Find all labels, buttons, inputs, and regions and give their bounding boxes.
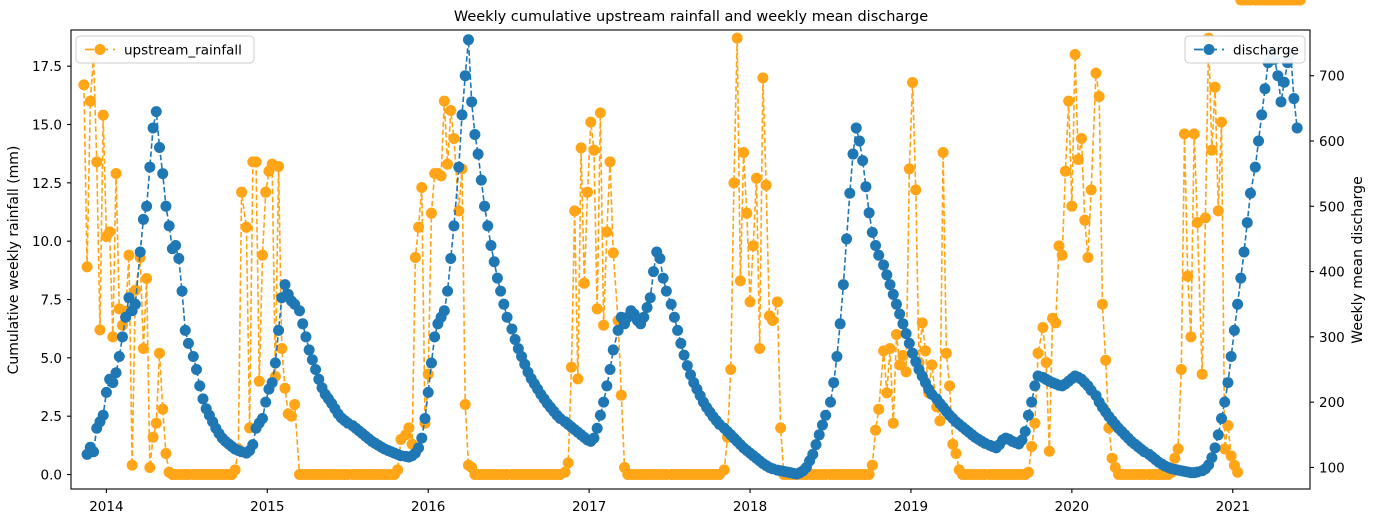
series-marker-discharge (841, 233, 852, 244)
legend-left-marker-swatch (95, 44, 106, 55)
series-marker-discharge (1239, 246, 1250, 257)
series-marker-discharge (904, 338, 915, 349)
series-marker-discharge (648, 266, 659, 277)
series-marker-upstream_rainfall (757, 72, 768, 83)
series-marker-upstream_rainfall (595, 107, 606, 118)
series-marker-discharge (489, 256, 500, 267)
series-marker-discharge (844, 188, 855, 199)
series-marker-upstream_rainfall (891, 329, 902, 340)
y-left-tick-label: 5.0 (41, 351, 62, 367)
series-marker-discharge (439, 305, 450, 316)
series-marker-discharge (814, 429, 825, 440)
series-marker-upstream_rainfall (1206, 145, 1217, 156)
series-marker-upstream_rainfall (151, 418, 162, 429)
series-marker-discharge (307, 354, 318, 365)
series-marker-discharge (148, 122, 159, 133)
series-marker-upstream_rainfall (725, 364, 736, 375)
y-right-tick-label: 600 (1319, 134, 1345, 150)
series-marker-discharge (485, 240, 496, 251)
series-marker-discharge (453, 162, 464, 173)
series-marker-discharge (595, 410, 606, 421)
y-right-tick-label: 700 (1319, 69, 1345, 85)
series-marker-discharge (605, 364, 616, 375)
series-marker-discharge (448, 220, 459, 231)
series-marker-discharge (851, 122, 862, 133)
x-tick-label: 2016 (411, 499, 445, 515)
series-marker-discharge (164, 220, 175, 231)
y-left-tick-label: 10.0 (32, 234, 62, 250)
series-marker-upstream_rainfall (864, 469, 875, 480)
series-marker-discharge (257, 413, 268, 424)
series-marker-discharge (1245, 188, 1256, 199)
series-marker-discharge (280, 279, 291, 290)
series-marker-upstream_rainfall (1050, 317, 1061, 328)
series-marker-upstream_rainfall (1232, 467, 1243, 478)
series-marker-upstream_rainfall (1216, 117, 1227, 128)
series-marker-discharge (479, 201, 490, 212)
series-marker-discharge (601, 380, 612, 391)
series-marker-upstream_rainfall (735, 275, 746, 286)
series-marker-discharge (1250, 162, 1261, 173)
series-marker-discharge (107, 377, 118, 388)
series-marker-upstream_rainfall (78, 79, 89, 90)
series-marker-upstream_rainfall (1200, 212, 1211, 223)
series-marker-discharge (1229, 325, 1240, 336)
series-marker-upstream_rainfall (761, 180, 772, 191)
series-marker-discharge (873, 250, 884, 261)
series-marker-upstream_rainfall (436, 170, 447, 181)
series-marker-upstream_rainfall (442, 159, 453, 170)
series-marker-discharge (672, 325, 683, 336)
series-marker-upstream_rainfall (111, 168, 122, 179)
y-left-tick-label: 12.5 (32, 176, 62, 192)
series-marker-discharge (1206, 452, 1217, 463)
series-marker-upstream_rainfall (867, 460, 878, 471)
series-marker-upstream_rainfall (439, 96, 450, 107)
series-marker-upstream_rainfall (1182, 271, 1193, 282)
series-marker-discharge (811, 439, 822, 450)
series-marker-upstream_rainfall (885, 343, 896, 354)
series-marker-discharge (831, 351, 842, 362)
series-marker-discharge (183, 338, 194, 349)
series-marker-discharge (848, 149, 859, 160)
series-marker-upstream_rainfall (1100, 355, 1111, 366)
series-marker-discharge (194, 380, 205, 391)
series-marker-upstream_rainfall (775, 422, 786, 433)
series-marker-upstream_rainfall (1073, 154, 1084, 165)
series-marker-upstream_rainfall (82, 261, 93, 272)
series-marker-discharge (1226, 351, 1237, 362)
series-marker-discharge (420, 413, 431, 424)
series-marker-discharge (1242, 217, 1253, 228)
series-marker-discharge (502, 312, 513, 323)
series-marker-discharge (1276, 96, 1287, 107)
series-marker-upstream_rainfall (728, 177, 739, 188)
series-marker-discharge (492, 273, 503, 284)
series-marker-upstream_rainfall (1197, 369, 1208, 380)
series-marker-upstream_rainfall (719, 464, 730, 475)
series-marker-discharge (247, 439, 258, 450)
series-marker-discharge (498, 299, 509, 310)
series-marker-upstream_rainfall (772, 296, 783, 307)
series-marker-upstream_rainfall (403, 422, 414, 433)
series-marker-discharge (160, 201, 171, 212)
series-marker-upstream_rainfall (938, 147, 949, 158)
series-marker-upstream_rainfall (881, 387, 892, 398)
series-marker-upstream_rainfall (1210, 82, 1221, 93)
series-marker-upstream_rainfall (1076, 133, 1087, 144)
series-marker-discharge (645, 292, 656, 303)
series-marker-discharge (638, 312, 649, 323)
series-marker-upstream_rainfall (926, 359, 937, 370)
series-marker-discharge (1023, 410, 1034, 421)
series-marker-upstream_rainfall (1179, 128, 1190, 139)
series-marker-upstream_rainfall (230, 464, 241, 475)
series-marker-discharge (469, 129, 480, 140)
series-marker-upstream_rainfall (738, 147, 749, 158)
series-marker-discharge (1210, 442, 1221, 453)
series-marker-upstream_rainfall (416, 182, 427, 193)
series-marker-discharge (304, 344, 315, 355)
y-left-tick-label: 2.5 (41, 409, 62, 425)
series-marker-upstream_rainfall (559, 467, 570, 478)
x-tick-label: 2019 (894, 499, 928, 515)
series-marker-discharge (817, 420, 828, 431)
series-marker-upstream_rainfall (1173, 443, 1184, 454)
series-marker-discharge (835, 318, 846, 329)
series-marker-discharge (642, 302, 653, 313)
legend-upstream-rainfall[interactable]: upstream_rainfall (76, 36, 254, 63)
series-marker-discharge (901, 328, 912, 339)
series-marker-upstream_rainfall (1060, 166, 1071, 177)
series-marker-discharge (828, 377, 839, 388)
series-marker-upstream_rainfall (426, 208, 437, 219)
series-marker-discharge (457, 109, 468, 120)
series-marker-upstream_rainfall (1082, 252, 1093, 263)
legend-left-label: upstream_rainfall (124, 43, 242, 59)
series-marker-discharge (867, 227, 878, 238)
series-marker-discharge (1235, 273, 1246, 284)
series-marker-upstream_rainfall (251, 156, 262, 167)
series-marker-upstream_rainfall (289, 399, 300, 410)
series-marker-discharge (111, 367, 122, 378)
series-marker-discharge (426, 357, 437, 368)
y-right-tick-label: 100 (1319, 460, 1345, 476)
series-marker-discharge (429, 331, 440, 342)
legend-right-label: discharge (1233, 43, 1299, 59)
series-marker-discharge (592, 423, 603, 434)
series-marker-upstream_rainfall (873, 404, 884, 415)
series-marker-upstream_rainfall (241, 222, 252, 233)
series-marker-discharge (1222, 377, 1233, 388)
series-marker-discharge (476, 175, 487, 186)
series-marker-discharge (495, 286, 506, 297)
series-marker-discharge (1256, 109, 1267, 120)
series-marker-discharge (173, 253, 184, 264)
series-marker-discharge (825, 397, 836, 408)
series-marker-discharge (416, 433, 427, 444)
series-marker-discharge (177, 286, 188, 297)
series-marker-upstream_rainfall (904, 163, 915, 174)
series-marker-upstream_rainfall (1094, 91, 1105, 102)
x-tick-label: 2015 (250, 499, 284, 515)
series-marker-upstream_rainfall (605, 156, 616, 167)
series-marker-discharge (191, 364, 202, 375)
series-marker-upstream_rainfall (579, 278, 590, 289)
series-marker-upstream_rainfall (1079, 215, 1090, 226)
series-marker-discharge (466, 96, 477, 107)
series-marker-discharge (1219, 397, 1230, 408)
series-marker-upstream_rainfall (104, 226, 115, 237)
series-marker-discharge (1020, 426, 1031, 437)
series-marker-upstream_rainfall (1070, 49, 1081, 60)
series-marker-upstream_rainfall (569, 205, 580, 216)
series-marker-upstream_rainfall (127, 460, 138, 471)
series-marker-upstream_rainfall (413, 222, 424, 233)
series-marker-upstream_rainfall (608, 247, 619, 258)
series-marker-discharge (141, 201, 152, 212)
series-marker-upstream_rainfall (741, 208, 752, 219)
y-left-tick-label: 0.0 (41, 468, 62, 484)
series-marker-discharge (101, 387, 112, 398)
series-marker-discharge (297, 318, 308, 329)
series-marker-upstream_rainfall (157, 404, 168, 415)
series-marker-discharge (180, 325, 191, 336)
series-marker-upstream_rainfall (941, 348, 952, 359)
series-marker-discharge (157, 168, 168, 179)
series-marker-upstream_rainfall (160, 448, 171, 459)
series-marker-upstream_rainfall (138, 343, 149, 354)
series-marker-discharge (506, 324, 517, 335)
series-marker-upstream_rainfall (888, 418, 899, 429)
series-marker-discharge (608, 344, 619, 355)
series-marker-discharge (413, 442, 424, 453)
series-marker-discharge (98, 410, 109, 421)
y-right-tick-label: 200 (1319, 395, 1345, 411)
series-marker-discharge (675, 338, 686, 349)
series-marker-discharge (463, 34, 474, 45)
series-marker-discharge (138, 214, 149, 225)
series-marker-upstream_rainfall (392, 464, 403, 475)
series-marker-discharge (854, 136, 865, 147)
y-right-tick-label: 400 (1319, 265, 1345, 281)
series-marker-discharge (473, 149, 484, 160)
series-marker-upstream_rainfall (588, 145, 599, 156)
series-marker-discharge (482, 220, 493, 231)
series-marker-upstream_rainfall (947, 439, 958, 450)
series-marker-upstream_rainfall (254, 376, 265, 387)
series-marker-upstream_rainfall (1033, 348, 1044, 359)
series-marker-upstream_rainfall (1044, 446, 1055, 457)
series-marker-upstream_rainfall (260, 187, 271, 198)
series-marker-discharge (1216, 413, 1227, 424)
series-marker-upstream_rainfall (1169, 453, 1180, 464)
series-marker-upstream_rainfall (445, 105, 456, 116)
series-marker-discharge (1259, 83, 1270, 94)
chart-figure: Weekly cumulative upstream rainfall and … (0, 0, 1375, 528)
series-marker-discharge (1288, 93, 1299, 104)
series-marker-upstream_rainfall (1057, 250, 1068, 261)
series-marker-discharge (888, 289, 899, 300)
series-marker-upstream_rainfall (98, 110, 109, 121)
series-marker-upstream_rainfall (754, 343, 765, 354)
legend-discharge[interactable]: discharge (1185, 36, 1305, 63)
series-marker-upstream_rainfall (148, 432, 159, 443)
series-marker-discharge (870, 240, 881, 251)
figure-background (0, 0, 1375, 528)
series-marker-upstream_rainfall (616, 390, 627, 401)
series-marker-discharge (807, 449, 818, 460)
series-marker-upstream_rainfall (1213, 205, 1224, 216)
legend-right-marker-swatch (1204, 44, 1215, 55)
series-marker-upstream_rainfall (276, 343, 287, 354)
series-marker-upstream_rainfall (154, 348, 165, 359)
series-marker-discharge (1026, 397, 1037, 408)
x-tick-label: 2018 (733, 499, 767, 515)
y-left-tick-label: 15.0 (32, 118, 62, 134)
series-marker-upstream_rainfall (94, 324, 105, 335)
series-marker-discharge (135, 246, 146, 257)
series-marker-discharge (658, 273, 669, 284)
series-marker-discharge (598, 397, 609, 408)
series-marker-upstream_rainfall (907, 77, 918, 88)
series-marker-upstream_rainfall (1189, 128, 1200, 139)
series-marker-upstream_rainfall (951, 448, 962, 459)
chart-canvas: Weekly cumulative upstream rainfall and … (0, 0, 1375, 528)
series-marker-upstream_rainfall (745, 296, 756, 307)
series-marker-upstream_rainfall (566, 362, 577, 373)
series-marker-discharge (88, 446, 99, 457)
series-marker-upstream_rainfall (410, 252, 421, 263)
series-marker-upstream_rainfall (582, 187, 593, 198)
series-marker-upstream_rainfall (572, 373, 583, 384)
series-marker-discharge (885, 279, 896, 290)
series-marker-upstream_rainfall (460, 399, 471, 410)
series-marker-discharge (170, 240, 181, 251)
series-marker-discharge (820, 410, 831, 421)
series-marker-upstream_rainfall (123, 250, 134, 261)
series-marker-discharge (1232, 299, 1243, 310)
series-marker-upstream_rainfall (563, 457, 574, 468)
series-marker-upstream_rainfall (1041, 357, 1052, 368)
series-marker-upstream_rainfall (1063, 96, 1074, 107)
series-marker-discharge (423, 387, 434, 398)
series-marker-discharge (114, 351, 125, 362)
y-axis-right-label: Weekly mean discharge (1350, 176, 1366, 343)
series-marker-upstream_rainfall (423, 369, 434, 380)
series-marker-upstream_rainfall (236, 187, 247, 198)
series-marker-upstream_rainfall (91, 156, 102, 167)
series-marker-upstream_rainfall (917, 317, 928, 328)
series-marker-upstream_rainfall (1185, 331, 1196, 342)
series-marker-discharge (273, 325, 284, 336)
series-marker-discharge (881, 269, 892, 280)
series-marker-discharge (654, 253, 665, 264)
series-marker-discharge (860, 181, 871, 192)
x-tick-label: 2014 (89, 499, 123, 515)
x-tick-label: 2017 (572, 499, 606, 515)
series-marker-upstream_rainfall (144, 462, 155, 473)
series-marker-upstream_rainfall (1226, 450, 1237, 461)
series-marker-discharge (661, 286, 672, 297)
series-marker-upstream_rainfall (107, 331, 118, 342)
series-marker-upstream_rainfall (1097, 299, 1108, 310)
x-tick-label: 2021 (1216, 499, 1250, 515)
series-marker-upstream_rainfall (448, 133, 459, 144)
series-marker-upstream_rainfall (280, 383, 291, 394)
series-marker-discharge (270, 357, 281, 368)
series-marker-discharge (151, 106, 162, 117)
series-marker-discharge (838, 279, 849, 290)
series-marker-discharge (154, 142, 165, 153)
series-marker-discharge (260, 397, 271, 408)
series-marker-upstream_rainfall (751, 173, 762, 184)
series-marker-upstream_rainfall (1037, 322, 1048, 333)
series-marker-discharge (1253, 136, 1264, 147)
series-marker-upstream_rainfall (1090, 68, 1101, 79)
series-marker-discharge (857, 155, 868, 166)
y-left-tick-label: 17.5 (32, 59, 62, 75)
series-marker-discharge (294, 305, 305, 316)
series-marker-upstream_rainfall (1053, 240, 1064, 251)
series-marker-upstream_rainfall (257, 250, 268, 261)
series-marker-discharge (588, 433, 599, 444)
chart-title: Weekly cumulative upstream rainfall and … (454, 9, 928, 25)
series-marker-discharge (460, 70, 471, 81)
series-marker-discharge (1213, 429, 1224, 440)
series-marker-upstream_rainfall (1026, 441, 1037, 452)
series-marker-discharge (894, 309, 905, 320)
series-marker-discharge (669, 312, 680, 323)
series-marker-discharge (130, 299, 141, 310)
series-marker-upstream_rainfall (748, 240, 759, 251)
series-marker-discharge (1292, 122, 1303, 133)
series-marker-upstream_rainfall (85, 96, 96, 107)
series-marker-upstream_rainfall (732, 33, 743, 44)
y-right-tick-label: 300 (1319, 330, 1345, 346)
series-marker-discharge (1279, 77, 1290, 88)
series-marker-discharge (679, 350, 690, 361)
series-marker-upstream_rainfall (767, 315, 778, 326)
series-marker-discharge (144, 162, 155, 173)
series-marker-upstream_rainfall (1107, 453, 1118, 464)
series-marker-discharge (878, 260, 889, 271)
series-marker-upstream_rainfall (901, 366, 912, 377)
series-marker-upstream_rainfall (1066, 201, 1077, 212)
series-marker-upstream_rainfall (1023, 467, 1034, 478)
series-marker-upstream_rainfall (141, 273, 152, 284)
series-marker-upstream_rainfall (934, 415, 945, 426)
y-axis-left-label: Cumulative weekly rainfall (mm) (6, 146, 22, 375)
series-marker-upstream_rainfall (585, 117, 596, 128)
series-marker-upstream_rainfall (592, 303, 603, 314)
series-marker-upstream_rainfall (273, 161, 284, 172)
series-marker-upstream_rainfall (601, 226, 612, 237)
y-right-tick-label: 500 (1319, 199, 1345, 215)
series-marker-discharge (1029, 380, 1040, 391)
series-marker-discharge (445, 253, 456, 264)
series-marker-discharge (197, 393, 208, 404)
series-marker-discharge (666, 299, 677, 310)
series-marker-discharge (310, 364, 321, 375)
series-marker-discharge (267, 377, 278, 388)
series-marker-upstream_rainfall (286, 411, 297, 422)
series-marker-upstream_rainfall (1176, 364, 1187, 375)
series-marker-discharge (864, 207, 875, 218)
x-tick-label: 2020 (1055, 499, 1089, 515)
y-left-tick-label: 7.5 (41, 293, 62, 309)
series-marker-discharge (300, 331, 311, 342)
